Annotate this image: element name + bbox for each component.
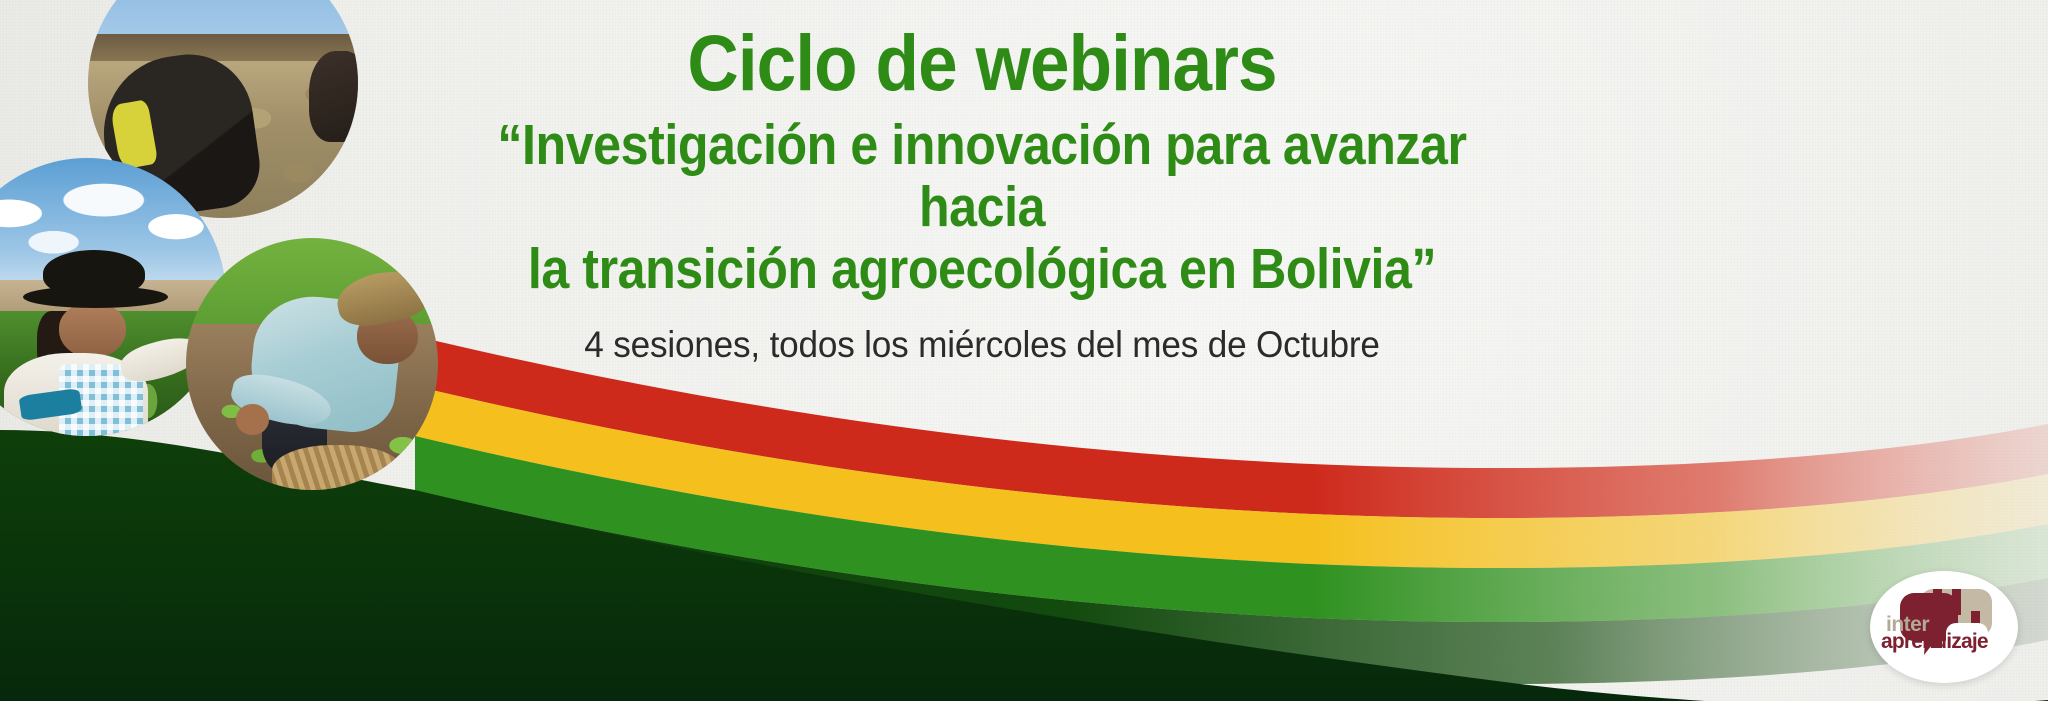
second-worker-figure	[309, 51, 358, 143]
schedule-tagline: 4 sesiones, todos los miércoles del mes …	[422, 322, 1543, 368]
subtitle-line-2: la transición agroecológica en Bolivia”	[463, 238, 1501, 300]
interaprendizaje-logo[interactable]: inter aprendizaje	[1870, 571, 2018, 683]
page-title: Ciclo de webinars	[451, 18, 1513, 108]
webinar-banner: Ciclo de webinars “Investigación e innov…	[0, 0, 2048, 701]
logo-text-aprendizaje: aprendizaje	[1881, 630, 1988, 654]
heading-block: Ciclo de webinars “Investigación e innov…	[392, 18, 1572, 368]
woman-face	[59, 303, 126, 359]
farmer-hand	[236, 404, 269, 434]
woven-basket	[272, 445, 403, 490]
subtitle-line-1: “Investigación e innovación para avanzar…	[463, 114, 1501, 238]
bowler-hat-brim	[23, 286, 168, 308]
